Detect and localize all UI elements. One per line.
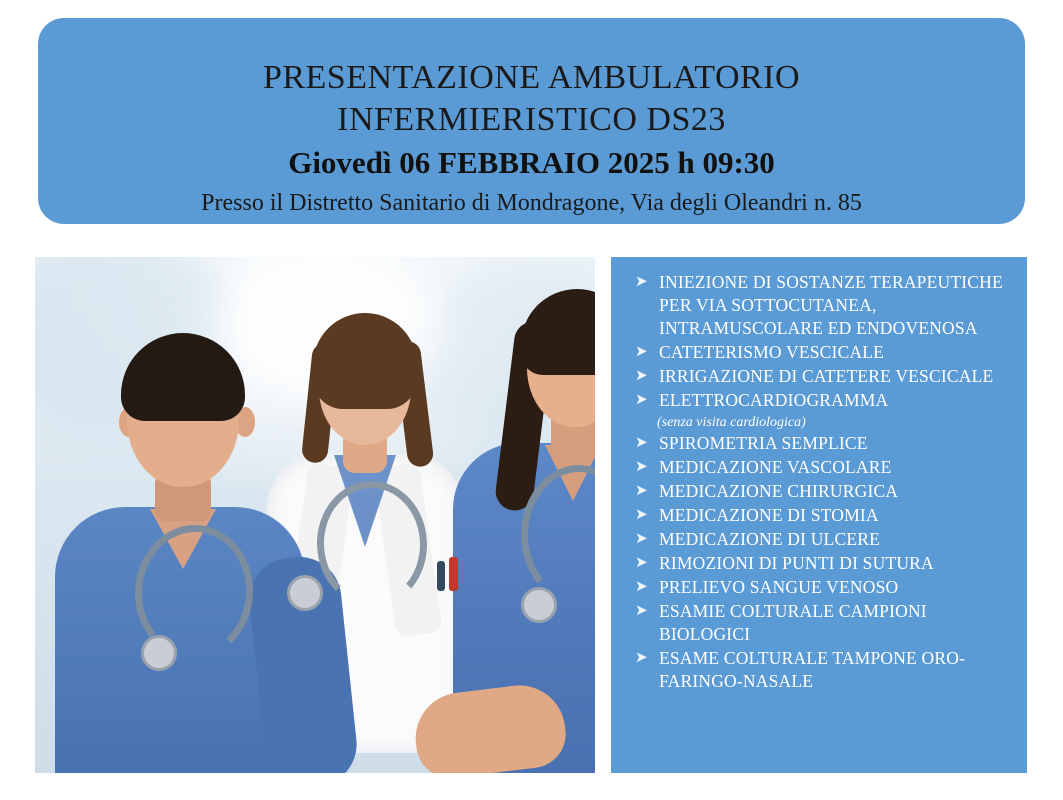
service-label: MEDICAZIONE DI ULCERE [659,528,880,551]
service-label: RIMOZIONI DI PUNTI DI SUTURA [659,552,934,575]
arrow-bullet-icon: ➤ [633,456,659,479]
arrow-bullet-icon: ➤ [633,365,659,388]
service-item: ➤ RIMOZIONI DI PUNTI DI SUTURA [633,552,1013,575]
service-label: PRELIEVO SANGUE VENOSO [659,576,898,599]
service-label: MEDICAZIONE VASCOLARE [659,456,892,479]
arrow-bullet-icon: ➤ [633,552,659,575]
stethoscope-chestpiece-right [521,587,557,623]
service-label: INIEZIONE DI SOSTANZE TERAPEUTICHE PER V… [659,271,1013,340]
service-item: ➤ PRELIEVO SANGUE VENOSO [633,576,1013,599]
arrow-bullet-icon: ➤ [633,528,659,551]
service-label: SPIROMETRIA SEMPLICE [659,432,868,455]
service-label: MEDICAZIONE DI STOMIA [659,504,879,527]
stethoscope-chestpiece-left [141,635,177,671]
event-venue: Presso il Distretto Sanitario di Mondrag… [201,188,862,218]
service-item: ➤ MEDICAZIONE DI ULCERE [633,528,1013,551]
pocket-pen-red [449,557,458,591]
arrow-bullet-icon: ➤ [633,271,659,294]
medical-staff-photo [35,257,595,773]
arrow-bullet-icon: ➤ [633,480,659,503]
service-item: ➤ CATETERISMO VESCICALE [633,341,1013,364]
service-item: ➤ ESAME COLTURALE TAMPONE ORO-FARINGO-NA… [633,647,1013,693]
service-item: ➤ MEDICAZIONE VASCOLARE [633,456,1013,479]
service-item: ➤ ELETTROCARDIOGRAMMA [633,389,1013,412]
service-item: ➤ MEDICAZIONE CHIRURGICA [633,480,1013,503]
service-item: ➤ IRRIGAZIONE DI CATETERE VESCICALE [633,365,1013,388]
service-label: ESAMIE COLTURALE CAMPIONI BIOLOGICI [659,600,1013,646]
service-label: MEDICAZIONE CHIRURGICA [659,480,898,503]
doctor-hair-top [313,313,417,409]
service-item: ➤ MEDICAZIONE DI STOMIA [633,504,1013,527]
stethoscope-chestpiece-center [287,575,323,611]
service-label: IRRIGAZIONE DI CATETERE VESCICALE [659,365,993,388]
arrow-bullet-icon: ➤ [633,576,659,599]
pocket-pen-dark [437,561,445,591]
service-note: (senza visita cardiologica) [633,413,1013,432]
service-item: ➤ SPIROMETRIA SEMPLICE [633,432,1013,455]
arrow-bullet-icon: ➤ [633,341,659,364]
arrow-bullet-icon: ➤ [633,504,659,527]
arrow-bullet-icon: ➤ [633,600,659,623]
service-item: ➤ INIEZIONE DI SOSTANZE TERAPEUTICHE PER… [633,271,1013,340]
header-banner: PRESENTAZIONE AMBULATORIO INFERMIERISTIC… [38,18,1025,224]
service-label: CATETERISMO VESCICALE [659,341,884,364]
service-label: ESAME COLTURALE TAMPONE ORO-FARINGO-NASA… [659,647,1013,693]
service-item: ➤ ESAMIE COLTURALE CAMPIONI BIOLOGICI [633,600,1013,646]
services-panel: ➤ INIEZIONE DI SOSTANZE TERAPEUTICHE PER… [611,257,1027,773]
arrow-bullet-icon: ➤ [633,647,659,670]
page-title-line-1: PRESENTAZIONE AMBULATORIO [263,58,800,98]
page-title-line-2: INFERMIERISTICO DS23 [337,100,726,140]
arrow-bullet-icon: ➤ [633,389,659,412]
service-label: ELETTROCARDIOGRAMMA [659,389,888,412]
arrow-bullet-icon: ➤ [633,432,659,455]
event-date-time: Giovedì 06 FEBBRAIO 2025 h 09:30 [288,144,775,182]
